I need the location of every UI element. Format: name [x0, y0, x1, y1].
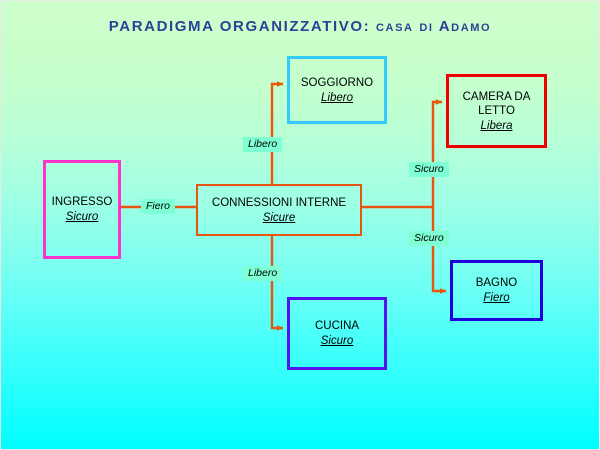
edge-connessioni-soggiorno [272, 84, 283, 184]
node-connessioni-name: CONNESSIONI INTERNE [212, 196, 346, 210]
node-camera-name: CAMERA DA LETTO [463, 90, 531, 118]
node-cucina[interactable]: CUCINA Sicuro [287, 297, 387, 370]
node-ingresso-name: INGRESSO [52, 195, 113, 209]
edge-connessioni-bagno [433, 207, 446, 291]
node-bagno-state: Fiero [483, 291, 509, 305]
node-soggiorno-state: Libero [321, 91, 353, 105]
node-connessioni-interne[interactable]: CONNESSIONI INTERNE Sicure [196, 184, 362, 236]
node-ingresso[interactable]: INGRESSO Sicuro [43, 160, 121, 259]
node-bagno-name: BAGNO [476, 276, 518, 290]
node-bagno[interactable]: BAGNO Fiero [450, 260, 543, 321]
edge-connessioni-camera [433, 102, 442, 207]
edge-label-connessioni-camera: Sicuro [409, 162, 449, 177]
edge-label-connessioni-bagno: Sicuro [409, 231, 449, 246]
node-ingresso-state: Sicuro [66, 210, 99, 224]
edge-connessioni-cucina [272, 236, 283, 328]
node-camera-state: Libera [481, 119, 513, 133]
node-connessioni-state: Sicure [263, 211, 296, 225]
node-camera-da-letto[interactable]: CAMERA DA LETTO Libera [446, 74, 547, 148]
node-soggiorno[interactable]: SOGGIORNO Libero [287, 56, 387, 124]
edge-label-ingresso-connessioni: Fiero [141, 199, 175, 214]
edge-label-connessioni-soggiorno: Libero [243, 137, 282, 152]
edge-label-connessioni-cucina: Libero [243, 266, 282, 281]
node-cucina-name: CUCINA [315, 319, 359, 333]
node-soggiorno-name: SOGGIORNO [301, 76, 373, 90]
diagram-canvas: PARADIGMA ORGANIZZATIVO: casa di Adamo [0, 0, 600, 450]
node-cucina-state: Sicuro [321, 334, 354, 348]
